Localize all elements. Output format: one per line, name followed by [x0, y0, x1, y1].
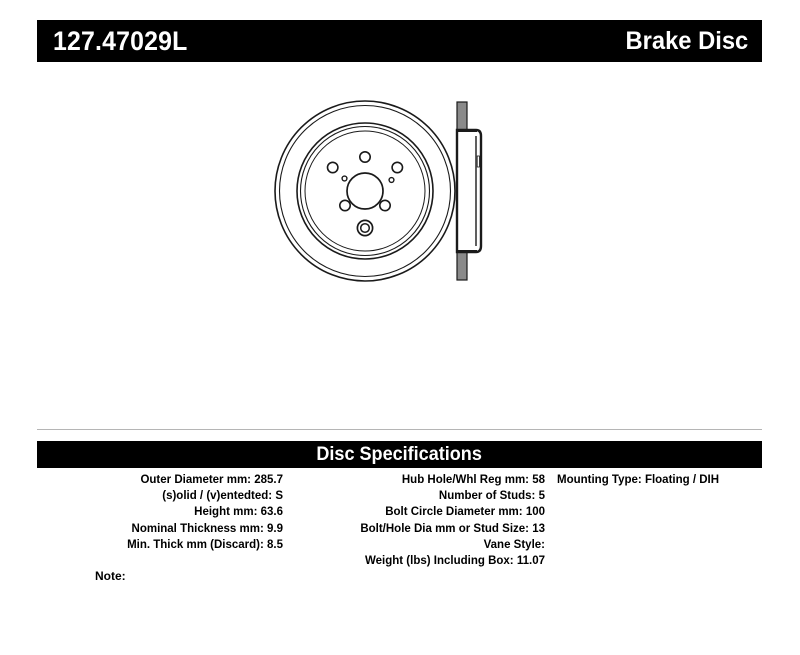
spec-label: Outer Diameter mm:: [140, 474, 254, 486]
section-divider: [37, 429, 762, 430]
spec-label: Number of Studs:: [439, 490, 539, 502]
spec-label: Nominal Thickness mm:: [132, 523, 267, 535]
spec-row: Number of Studs: 5: [287, 488, 545, 504]
spec-column-middle: Hub Hole/Whl Reg mm: 58 Number of Studs:…: [287, 472, 549, 569]
spec-value: 285.7: [254, 474, 283, 486]
specifications-table: Outer Diameter mm: 285.7 (s)olid / (v)en…: [37, 472, 762, 569]
spec-row: Weight (lbs) Including Box: 11.07: [287, 553, 545, 569]
spec-label: Bolt Circle Diameter mm:: [385, 506, 526, 518]
spec-row: Mounting Type: Floating / DIH: [557, 472, 762, 488]
spec-label: (s)olid / (v)entedted:: [162, 490, 275, 502]
spec-row: Nominal Thickness mm: 9.9: [37, 521, 283, 537]
spec-value: S: [275, 490, 283, 502]
spec-column-left: Outer Diameter mm: 285.7 (s)olid / (v)en…: [37, 472, 287, 553]
brake-rotor-face-view: [272, 98, 458, 289]
product-type-title: Brake Disc: [625, 27, 748, 56]
spec-label: Min. Thick mm (Discard):: [127, 539, 267, 551]
disc-specifications-bar: Disc Specifications: [37, 441, 762, 468]
spec-row: Height mm: 63.6: [37, 504, 283, 520]
spec-label: Mounting Type:: [557, 474, 645, 486]
specs-title: Disc Specifications: [317, 444, 483, 466]
spec-row: Bolt/Hole Dia mm or Stud Size: 13: [287, 521, 545, 537]
spec-value: 5: [539, 490, 545, 502]
spec-row: Vane Style:: [287, 537, 545, 553]
spec-value: 8.5: [267, 539, 283, 551]
spec-value: 100: [526, 506, 545, 518]
header-bar: 127.47029L Brake Disc: [37, 20, 762, 62]
spec-label: Bolt/Hole Dia mm or Stud Size:: [360, 523, 532, 535]
spec-value: 63.6: [261, 506, 283, 518]
note-label: Note:: [95, 569, 126, 583]
part-number: 127.47029L: [53, 26, 187, 57]
spec-label: Height mm:: [194, 506, 260, 518]
spec-value: 58: [532, 474, 545, 486]
spec-value: 9.9: [267, 523, 283, 535]
product-drawing-area: [37, 80, 762, 410]
spec-row: (s)olid / (v)entedted: S: [37, 488, 283, 504]
spec-column-right: Mounting Type: Floating / DIH: [549, 472, 762, 488]
spec-label: Hub Hole/Whl Reg mm:: [402, 474, 532, 486]
spec-row: Outer Diameter mm: 285.7: [37, 472, 283, 488]
spec-row: Hub Hole/Whl Reg mm: 58: [287, 472, 545, 488]
spec-value: 13: [532, 523, 545, 535]
spec-row: Bolt Circle Diameter mm: 100: [287, 504, 545, 520]
spec-value: Floating / DIH: [645, 474, 719, 486]
spec-label: Weight (lbs) Including Box:: [365, 555, 517, 567]
spec-label: Vane Style:: [484, 539, 545, 551]
spec-value: 11.07: [517, 555, 545, 567]
spec-row: Min. Thick mm (Discard): 8.5: [37, 537, 283, 553]
brake-rotor-side-section-view: [450, 100, 520, 287]
